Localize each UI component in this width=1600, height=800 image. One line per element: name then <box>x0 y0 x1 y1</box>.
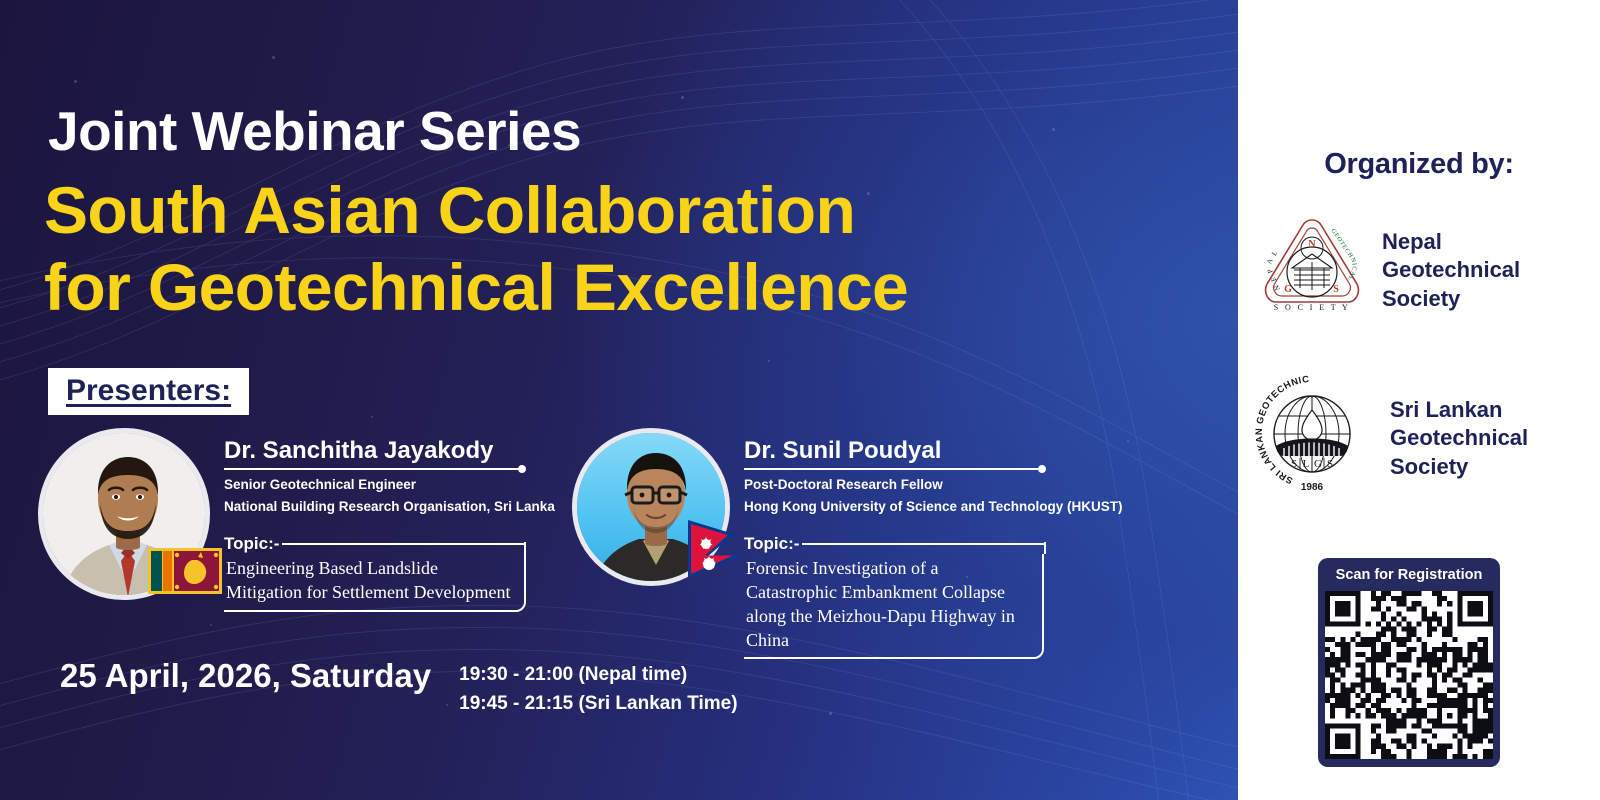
organizer-nepal-geotechnical-society: N G S N E P A L GEOTECHNICAL S O C I E T… <box>1256 212 1520 329</box>
speaker-2-topic-corner <box>1044 542 1046 554</box>
sri-lanka-flag <box>148 548 222 594</box>
slgs-name-line-1: Sri Lankan <box>1390 396 1528 425</box>
slgs-name-line-2: Geotechnical <box>1390 424 1528 453</box>
scan-for-registration-label: Scan for Registration <box>1325 565 1493 591</box>
nepal-geotechnical-society-name: Nepal Geotechnical Society <box>1382 228 1520 314</box>
event-time-nepal: 19:30 - 21:00 (Nepal time) <box>459 660 737 689</box>
speaker-1-topic-text: Engineering Based Landslide Mitigation f… <box>224 554 526 612</box>
svg-text:S: S <box>1291 458 1297 470</box>
registration-qr-code[interactable] <box>1325 591 1493 759</box>
speaker-2-role: Post-Doctoral Research Fellow <box>744 476 1046 495</box>
speaker-1-details: Dr. Sanchitha Jayakody Senior Geotechnic… <box>224 428 526 612</box>
sri-lankan-geotechnical-society-name: Sri Lankan Geotechnical Society <box>1390 396 1528 482</box>
speaker-2-name: Dr. Sunil Poudyal <box>744 438 1046 463</box>
ngs-name-line-1: Nepal <box>1382 228 1520 257</box>
organizer-sri-lankan-geotechnical-society: SL GS SRI LANKAN GEOTECHNICAL SOCIETY 19… <box>1248 372 1528 505</box>
page-title-line-2: for Geotechnical Excellence <box>44 249 908 326</box>
svg-text:S O C I E T Y: S O C I E T Y <box>1274 303 1350 312</box>
speaker-2-name-rule <box>744 465 1046 473</box>
svg-text:G: G <box>1284 284 1292 295</box>
speaker-1-topic-rule <box>282 543 526 545</box>
speaker-2-affiliation: Hong Kong University of Science and Tech… <box>744 498 1046 517</box>
presenters-tag: Presenters: <box>48 368 249 415</box>
hero-panel: Joint Webinar Series South Asian Collabo… <box>0 0 1238 800</box>
event-date: 25 April, 2026, Saturday <box>60 656 431 696</box>
speaker-1-photo-wrap <box>38 428 210 600</box>
slgs-year: 1986 <box>1301 482 1324 493</box>
webinar-kicker: Joint Webinar Series <box>48 104 581 159</box>
speaker-1-role: Senior Geotechnical Engineer <box>224 476 526 495</box>
speaker-card-2: Dr. Sunil Poudyal Post-Doctoral Research… <box>572 428 1046 659</box>
event-times: 19:30 - 21:00 (Nepal time) 19:45 - 21:15… <box>459 656 737 719</box>
svg-text:L: L <box>1303 458 1310 470</box>
speaker-card-1: Dr. Sanchitha Jayakody Senior Geotechnic… <box>38 428 526 612</box>
schedule-row: 25 April, 2026, Saturday 19:30 - 21:00 (… <box>60 656 738 719</box>
speaker-2-topic-label: Topic:- <box>744 534 799 554</box>
ngs-name-line-3: Society <box>1382 285 1520 314</box>
speaker-1-topic-corner <box>524 542 526 554</box>
ngs-name-line-2: Geotechnical <box>1382 256 1520 285</box>
speaker-1-name: Dr. Sanchitha Jayakody <box>224 438 526 463</box>
registration-qr-panel[interactable]: Scan for Registration <box>1318 558 1500 767</box>
svg-text:G: G <box>1314 458 1322 470</box>
speaker-1-topic-label: Topic:- <box>224 534 279 554</box>
svg-text:N: N <box>1308 239 1316 250</box>
page-title: South Asian Collaboration for Geotechnic… <box>44 172 908 325</box>
speaker-1-topic-head: Topic:- <box>224 534 526 554</box>
speaker-2-topic-block: Topic:- Forensic Investigation of a Cata… <box>744 534 1046 659</box>
speaker-2-topic-head: Topic:- <box>744 534 1046 554</box>
nepal-flag <box>682 516 748 582</box>
page-title-line-1: South Asian Collaboration <box>44 172 908 249</box>
speaker-2-details: Dr. Sunil Poudyal Post-Doctoral Research… <box>744 428 1046 659</box>
nepal-geotechnical-society-logo: N G S N E P A L GEOTECHNICAL S O C I E T… <box>1256 212 1368 329</box>
speaker-2-topic-text: Forensic Investigation of a Catastrophic… <box>744 554 1044 659</box>
organized-by-title: Organized by: <box>1238 148 1600 181</box>
webinar-banner: Joint Webinar Series South Asian Collabo… <box>0 0 1600 800</box>
speaker-2-photo-wrap <box>572 428 730 586</box>
speaker-1-affiliation: National Building Research Organisation,… <box>224 498 526 517</box>
event-time-sri-lanka: 19:45 - 21:15 (Sri Lankan Time) <box>459 689 737 718</box>
slgs-name-line-3: Society <box>1390 453 1528 482</box>
svg-text:S: S <box>1327 458 1333 470</box>
speaker-2-topic-rule <box>802 543 1046 545</box>
speaker-1-name-rule <box>224 465 526 473</box>
svg-text:S: S <box>1333 284 1339 295</box>
speaker-1-topic-block: Topic:- Engineering Based Landslide Miti… <box>224 534 526 612</box>
sri-lankan-geotechnical-society-logo: SL GS SRI LANKAN GEOTECHNICAL SOCIETY 19… <box>1248 372 1376 505</box>
